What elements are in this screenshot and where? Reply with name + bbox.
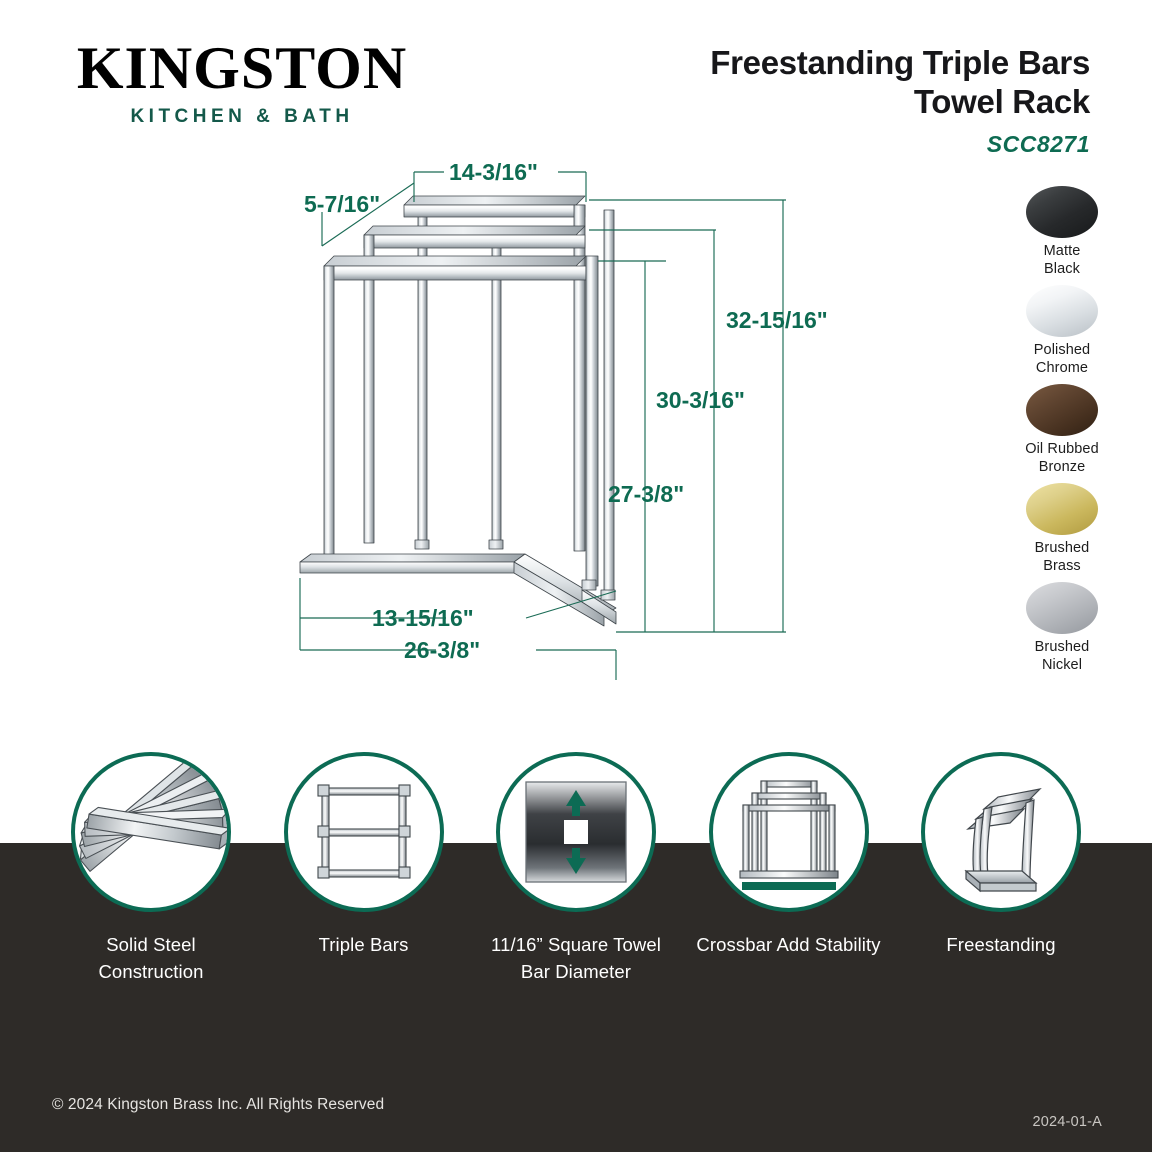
dim-height-short: 27-3/8": [608, 481, 684, 507]
product-dimension-drawing: 14-3/16" 5-7/16" 32-15/16" 30-3/16" 27-3…: [286, 150, 906, 710]
finish-label-line-2: Chrome: [1000, 360, 1124, 378]
product-title-block: Freestanding Triple Bars Towel Rack SCC8…: [550, 44, 1090, 158]
spec-sheet: KINGSTON KITCHEN & BATH Freestanding Tri…: [0, 0, 1152, 1152]
dim-base-depth: 13-15/16": [372, 605, 474, 631]
dim-height-mid: 30-3/16": [656, 387, 745, 413]
feature-label-line-2: Bar Diameter: [491, 959, 661, 986]
brand-tagline: KITCHEN & BATH: [52, 106, 432, 128]
finish-option-matte-black[interactable]: Matte Black: [1000, 186, 1124, 279]
product-title-line-2: Towel Rack: [550, 83, 1090, 122]
brand-name: KINGSTON: [52, 38, 432, 98]
swatch-polished-chrome: [1026, 285, 1098, 337]
feature-icon-circle: [921, 752, 1081, 912]
feature-triple-bars: Triple Bars: [271, 752, 457, 1012]
dim-base-width: 26-3/8": [404, 637, 480, 663]
product-title-line-1: Freestanding Triple Bars: [550, 44, 1090, 83]
feature-label-line-1: Crossbar Add Stability: [696, 932, 880, 959]
freestanding-rack-icon: [936, 767, 1066, 897]
copyright-text: © 2024 Kingston Brass Inc. All Rights Re…: [52, 1096, 384, 1114]
steel-bars-icon: [75, 756, 227, 908]
finish-label-line-1: Oil Rubbed: [1000, 441, 1124, 459]
finish-options-list: Matte Black Polished Chrome Oil Rubbed B…: [1000, 186, 1124, 681]
feature-crossbar-stability: Crossbar Add Stability: [696, 752, 882, 1012]
feature-label-line-2: Construction: [98, 959, 203, 986]
crossbar-stability-icon: [724, 767, 854, 897]
swatch-brushed-nickel: [1026, 582, 1098, 634]
swatch-brushed-brass: [1026, 483, 1098, 535]
feature-solid-steel-construction: Solid Steel Construction: [58, 752, 244, 1012]
dim-bar-offset: 5-7/16": [304, 191, 380, 217]
feature-icon-circle: [284, 752, 444, 912]
dim-top-bar-width: 14-3/16": [449, 159, 538, 185]
square-bar-diameter-icon: [516, 772, 636, 892]
swatch-matte-black: [1026, 186, 1098, 238]
feature-icon-circle: [496, 752, 656, 912]
finish-label-line-2: Brass: [1000, 558, 1124, 576]
feature-label-line-1: Freestanding: [946, 932, 1055, 959]
feature-label-line-1: Triple Bars: [319, 932, 409, 959]
triple-bars-icon: [304, 772, 424, 892]
feature-freestanding: Freestanding: [908, 752, 1094, 1012]
feature-bar-diameter: 11/16” Square Towel Bar Diameter: [483, 752, 669, 1012]
finish-option-brushed-nickel[interactable]: Brushed Nickel: [1000, 582, 1124, 675]
finish-label-line-1: Brushed: [1000, 540, 1124, 558]
finish-label-line-2: Black: [1000, 261, 1124, 279]
finish-option-polished-chrome[interactable]: Polished Chrome: [1000, 285, 1124, 378]
dim-height-tall: 32-15/16": [726, 307, 828, 333]
feature-icon-circle: [71, 752, 231, 912]
feature-highlights: Solid Steel Construction: [0, 752, 1152, 1012]
finish-label-line-1: Brushed: [1000, 639, 1124, 657]
feature-label-line-1: Solid Steel: [98, 932, 203, 959]
finish-option-brushed-brass[interactable]: Brushed Brass: [1000, 483, 1124, 576]
finish-label-line-2: Bronze: [1000, 459, 1124, 477]
finish-label-line-2: Nickel: [1000, 657, 1124, 675]
finish-option-oil-rubbed-bronze[interactable]: Oil Rubbed Bronze: [1000, 384, 1124, 477]
revision-code: 2024-01-A: [1032, 1114, 1102, 1130]
feature-label-line-1: 11/16” Square Towel: [491, 932, 661, 959]
finish-label-line-1: Polished: [1000, 342, 1124, 360]
swatch-oil-rubbed-bronze: [1026, 384, 1098, 436]
feature-icon-circle: [709, 752, 869, 912]
finish-label-line-1: Matte: [1000, 243, 1124, 261]
brand-logo: KINGSTON KITCHEN & BATH: [52, 38, 432, 128]
